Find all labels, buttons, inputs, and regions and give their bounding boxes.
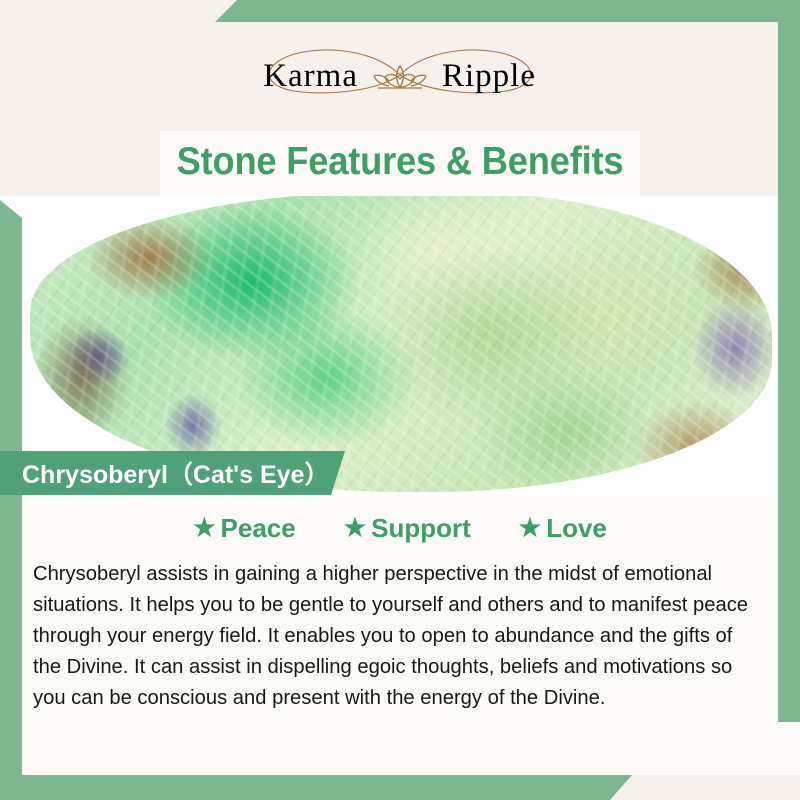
stone-description: Chrysoberyl assists in gaining a higher … (33, 558, 764, 713)
frame-right-bar (778, 0, 800, 722)
keyword-item-love: ★ Love (519, 513, 607, 544)
star-icon: ★ (193, 516, 215, 541)
stone-name-banner: Chrysoberyl（Cat's Eye） (0, 451, 345, 495)
keyword-list: ★ Peace ★ Support ★ Love (0, 513, 800, 544)
keyword-item-peace: ★ Peace (193, 513, 296, 544)
brand-word-left: Karma (263, 58, 358, 94)
stone-texture-overlay (30, 196, 772, 492)
stone-specimen-image (30, 196, 772, 492)
keyword-label: Peace (221, 513, 296, 544)
star-icon: ★ (344, 516, 366, 541)
brand-logo: Karma Ripple (0, 40, 800, 110)
frame-left-bar (0, 200, 22, 798)
star-icon: ★ (519, 516, 541, 541)
keyword-item-support: ★ Support (344, 513, 471, 544)
brand-word-right: Ripple (442, 58, 536, 94)
keyword-label: Love (546, 513, 607, 544)
lotus-infinity-icon: Karma Ripple (190, 43, 610, 107)
keyword-label: Support (371, 513, 471, 544)
stone-name-label: Chrysoberyl（Cat's Eye） (22, 455, 329, 491)
frame-bottom-bar (0, 775, 632, 800)
stone-info-card: Karma Ripple Stone Features & Benefits C… (0, 0, 800, 800)
frame-top-bar (215, 0, 800, 22)
page-title: Stone Features & Benefits (28, 140, 772, 184)
